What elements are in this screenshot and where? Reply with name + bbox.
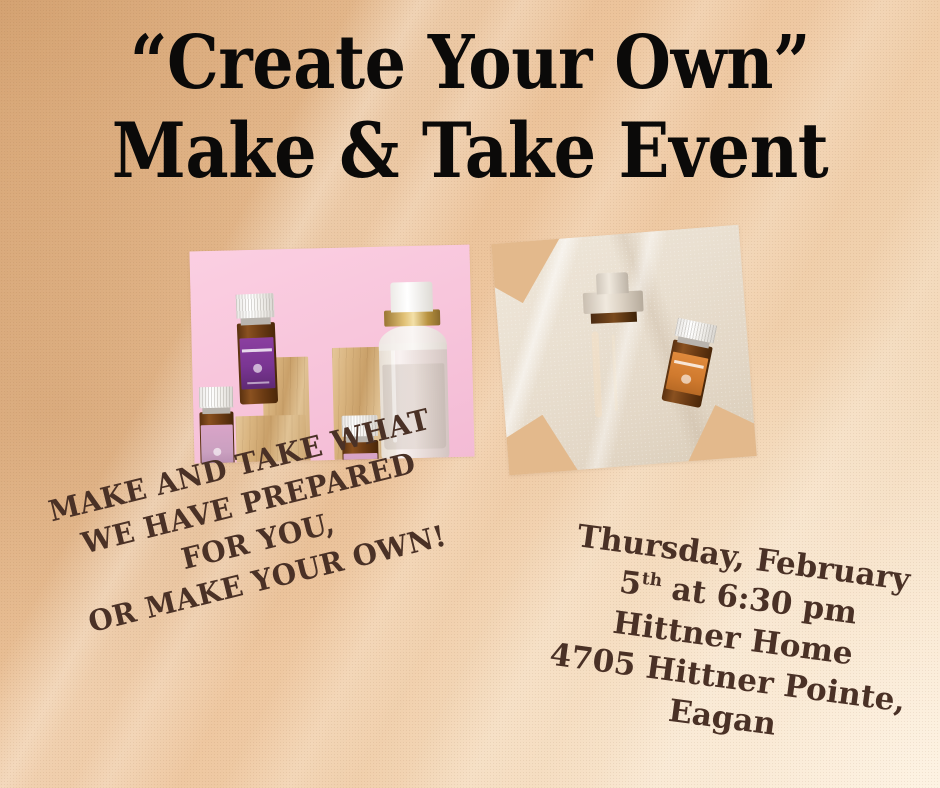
spray-cap — [390, 282, 433, 313]
event-flyer: “Create Your Own” Make & Take Event — [0, 0, 940, 788]
linen-product-photo — [491, 225, 756, 476]
lavender-oil-purple-label — [236, 293, 279, 404]
amber-spray-bottle — [571, 271, 660, 446]
amber-collar — [583, 290, 643, 313]
amber-sprayer-cap — [596, 272, 630, 294]
label-text-line — [247, 381, 269, 384]
oil-cap — [236, 293, 275, 319]
headline-line-2: Make & Take Event — [56, 115, 883, 188]
event-details: Thursday, February 5th at 6:30 pm Hittne… — [521, 512, 940, 765]
label-text-line — [242, 348, 271, 352]
oil-label-purple — [239, 337, 276, 389]
label-seal — [680, 373, 691, 384]
page-title: “Create Your Own” Make & Take Event — [0, 28, 940, 188]
event-day-number: 5 — [617, 565, 643, 604]
label-seal — [253, 364, 262, 373]
oil-cap — [199, 386, 234, 408]
label-text-line — [673, 360, 704, 369]
spray-shoulder — [379, 324, 447, 351]
headline-line-1: “Create Your Own” — [56, 28, 883, 99]
